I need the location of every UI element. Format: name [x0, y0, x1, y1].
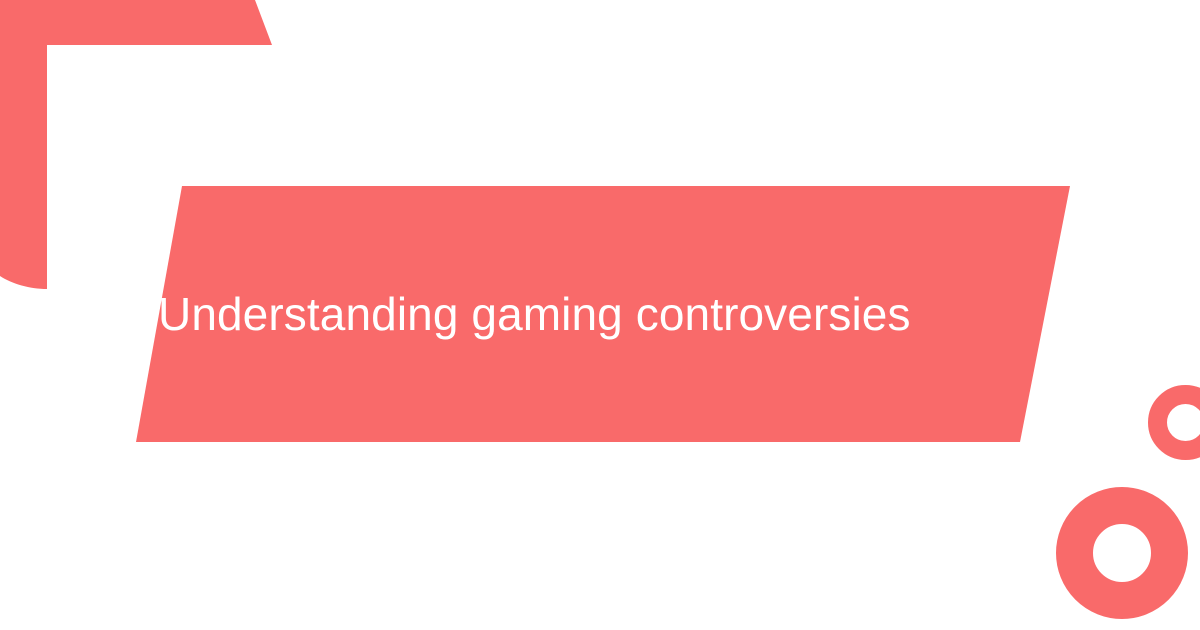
top-left-corner-bracket-icon	[0, 0, 272, 289]
large-ring-icon	[1056, 487, 1188, 619]
graphic-canvas: Understanding gaming controversies	[0, 0, 1200, 630]
decorative-shapes-layer	[0, 0, 1200, 630]
